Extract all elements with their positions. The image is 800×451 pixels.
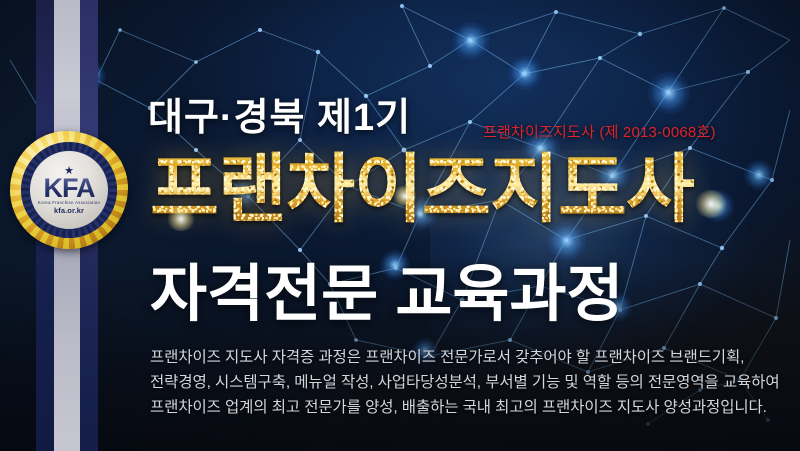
- promo-banner: ★ KFA Korea Franchise Association kfa.or…: [0, 0, 800, 451]
- sparkle-icon: [694, 190, 728, 218]
- banner-gold-title: 프랜차이즈지도사: [150, 147, 694, 231]
- description-line: 프랜차이즈 업계의 최고 전문가를 양성, 배출하는 국내 최고의 프랜차이즈 …: [150, 395, 796, 420]
- banner-subtitle: 자격전문 교육과정: [150, 243, 624, 333]
- banner-kicker: 대구·경북 제1기: [148, 86, 411, 141]
- banner-description: 프랜차이즈 지도사 자격증 과정은 프랜차이즈 전문가로서 갖추어야 할 프랜차…: [150, 345, 796, 420]
- banner-content: 대구·경북 제1기 프랜차이즈지도사 (제 2013-0068호) 프랜차이즈지…: [0, 0, 800, 451]
- description-line: 프랜차이즈 지도사 자격증 과정은 프랜차이즈 전문가로서 갖추어야 할 프랜차…: [150, 345, 796, 370]
- certification-note: 프랜차이즈지도사 (제 2013-0068호): [483, 121, 716, 142]
- description-line: 전략경영, 시스템구축, 메뉴얼 작성, 사업타당성분석, 부서별 기능 및 역…: [150, 370, 796, 395]
